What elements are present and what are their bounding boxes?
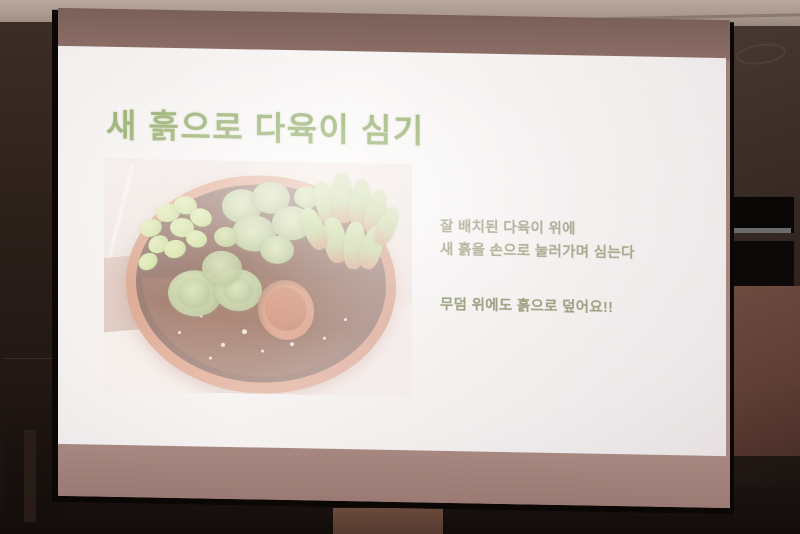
- side-board: [731, 286, 800, 456]
- projection-screen: 새 흙으로 다육이 심기 잘 배치된 다육이 위에 새 흙을 손으로 눌러가며 …: [58, 8, 730, 508]
- presentation-slide: 새 흙으로 다육이 심기 잘 배치된 다육이 위에 새 흙을 손으로 눌러가며 …: [58, 46, 726, 456]
- podium: [333, 508, 443, 534]
- slide-body-text: 잘 배치된 다육이 위에 새 흙을 손으로 눌러가며 심는다: [440, 216, 635, 266]
- window-sill: [733, 228, 791, 233]
- succulent-rosette: [202, 250, 242, 285]
- succulent-rosette: [178, 278, 210, 307]
- succulent-rosette: [260, 236, 294, 265]
- screenshot-scene: 새 흙으로 다육이 심기 잘 배치된 다육이 위에 새 흙을 손으로 눌러가며 …: [0, 0, 800, 534]
- left-furniture-leg: [24, 430, 36, 522]
- succulent-photo: [104, 159, 412, 397]
- slide-title: 새 흙으로 다육이 심기: [106, 99, 425, 153]
- body-line-2: 새 흙을 손으로 눌러가며 심는다: [440, 239, 635, 266]
- succulent-small: [214, 227, 238, 247]
- slide-body-note: 무덤 위에도 흙으로 덮어요!!: [440, 293, 613, 317]
